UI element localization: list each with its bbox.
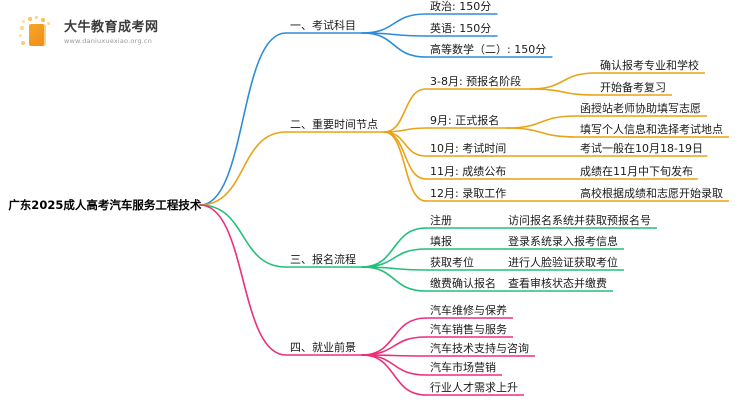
node-l3-3-4-1[interactable]: 查看审核状态并缴费	[508, 276, 607, 290]
branch-label-1[interactable]: 一、考试科目	[290, 18, 356, 32]
link-branch-4-child-2	[362, 337, 426, 355]
node-l2-3-4[interactable]: 缴费确认报名	[430, 276, 496, 290]
link-child-2-1-sub-1	[530, 73, 596, 89]
link-child-2-1-sub-2	[530, 89, 596, 95]
node-l2-2-2[interactable]: 9月: 正式报名	[430, 113, 499, 127]
node-l2-2-1[interactable]: 3-8月: 预报名阶段	[430, 74, 521, 88]
link-branch-3-child-2	[362, 249, 426, 267]
node-l2-1-2[interactable]: 英语: 150分	[430, 21, 491, 35]
mindmap-root-node[interactable]: 广东2025成人高考汽车服务工程技术	[8, 198, 202, 212]
node-l3-2-2-2[interactable]: 填写个人信息和选择考试地点	[580, 122, 723, 136]
node-l3-2-5-1[interactable]: 高校根据成绩和志愿开始录取	[580, 186, 723, 200]
node-l2-2-4[interactable]: 11月: 成绩公布	[430, 165, 506, 178]
node-l3-2-3-1[interactable]: 考试一般在10月18-19日	[580, 142, 703, 155]
node-l3-2-1-1[interactable]: 确认报考专业和学校	[600, 58, 699, 72]
node-l2-4-3[interactable]: 汽车技术支持与咨询	[430, 341, 529, 355]
node-l3-2-4-1[interactable]: 成绩在11月中下旬发布	[580, 164, 693, 178]
node-l3-2-2-1[interactable]: 函授站老师协助填写志愿	[580, 101, 701, 115]
node-l2-3-3[interactable]: 获取考位	[430, 255, 474, 269]
node-l2-1-3[interactable]: 高等数学（二）: 150分	[430, 42, 546, 56]
node-l3-3-1-1[interactable]: 访问报名系统并获取预报名号	[508, 213, 651, 227]
node-l2-4-2[interactable]: 汽车销售与服务	[430, 322, 507, 336]
branch-label-2[interactable]: 二、重要时间节点	[290, 117, 378, 131]
link-branch-2-child-1	[384, 89, 426, 132]
link-branch-4-child-4	[362, 355, 426, 375]
link-root-branch-2	[200, 132, 286, 205]
node-l2-1-1[interactable]: 政治: 150分	[430, 0, 491, 13]
branch-label-4[interactable]: 四、就业前景	[290, 340, 356, 354]
link-branch-2-child-5	[384, 132, 426, 201]
node-l2-3-1[interactable]: 注册	[430, 213, 452, 227]
link-child-2-2-sub-2	[507, 128, 576, 137]
node-l2-2-3[interactable]: 10月: 考试时间	[430, 142, 506, 155]
node-l3-3-2-1[interactable]: 登录系统录入报考信息	[508, 234, 618, 248]
node-l2-4-5[interactable]: 行业人才需求上升	[430, 380, 518, 394]
branch-label-3[interactable]: 三、报名流程	[290, 252, 356, 266]
node-l2-4-4[interactable]: 汽车市场营销	[430, 360, 496, 374]
node-l2-2-5[interactable]: 12月: 录取工作	[430, 187, 506, 200]
link-child-2-2-sub-1	[507, 116, 576, 128]
node-l3-2-1-2[interactable]: 开始备考复习	[600, 80, 666, 94]
mindmap-canvas: 广东2025成人高考汽车服务工程技术一、考试科目政治: 150分英语: 150分…	[0, 0, 750, 410]
link-branch-2-child-3	[384, 132, 426, 156]
node-l3-3-3-1[interactable]: 进行人脸验证获取考位	[508, 255, 618, 269]
node-l2-3-2[interactable]: 填报	[430, 234, 452, 248]
link-branch-3-child-1	[362, 228, 426, 267]
link-root-branch-3	[200, 205, 286, 267]
link-branch-1-child-1	[362, 14, 426, 33]
link-root-branch-4	[200, 205, 286, 355]
link-root-branch-1	[200, 33, 286, 205]
link-branch-4-child-1	[362, 318, 426, 355]
node-l2-4-1[interactable]: 汽车维修与保养	[430, 303, 507, 317]
